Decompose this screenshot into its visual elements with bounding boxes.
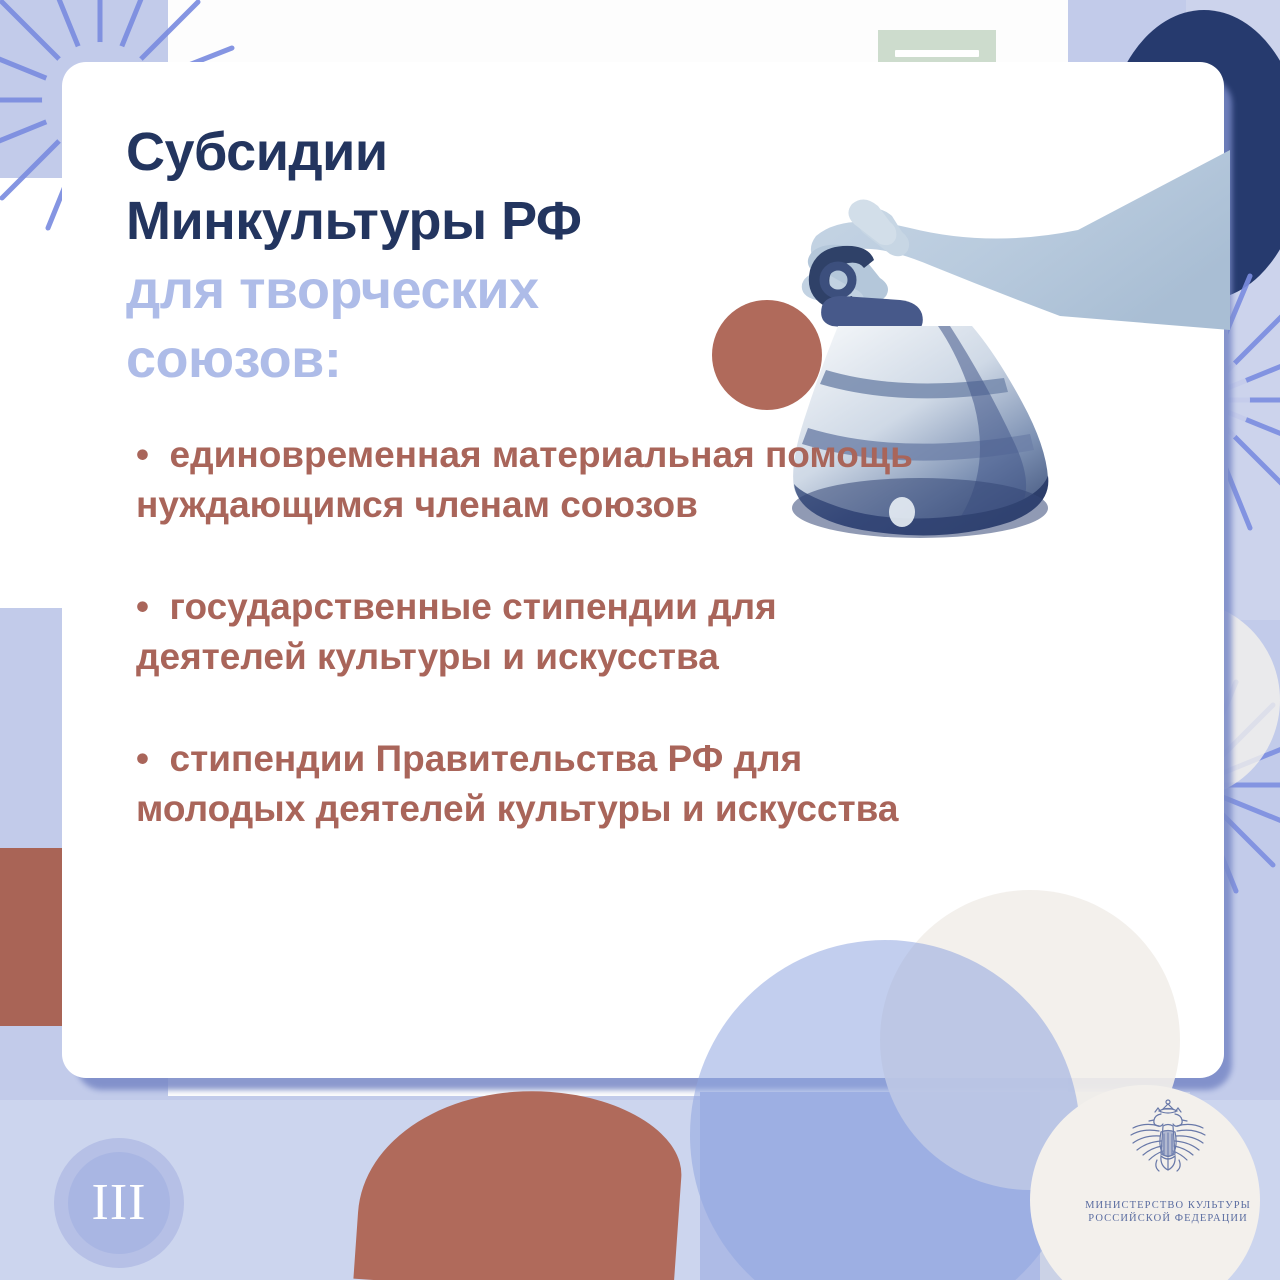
- bullet-text: стипендии Правительства РФ для молодых д…: [136, 738, 898, 829]
- slide-canvas: Субсидии Минкультуры РФ для творческих с…: [0, 0, 1280, 1280]
- bullet-text: единовременная материальная помощь нужда…: [136, 434, 913, 525]
- list-item: • государственные стипендии для деятелей…: [136, 582, 926, 682]
- page-badge-number: III: [92, 1177, 147, 1229]
- logo-caption-line-2: РОССИЙСКОЙ ФЕДЕРАЦИИ: [1085, 1212, 1251, 1225]
- logo-caption: МИНИСТЕРСТВО КУЛЬТУРЫ РОССИЙСКОЙ ФЕДЕРАЦ…: [1085, 1199, 1251, 1225]
- page-title: Субсидии Минкультуры РФ для творческих с…: [126, 118, 766, 394]
- bullet-text: государственные стипендии для деятелей к…: [136, 586, 777, 677]
- ministry-logo: МИНИСТЕРСТВО КУЛЬТУРЫ РОССИЙСКОЙ ФЕДЕРАЦ…: [1078, 1098, 1258, 1250]
- headline-line-2: Минкультуры РФ: [126, 187, 766, 256]
- bullet-marker: •: [136, 738, 149, 779]
- list-item: • единовременная материальная помощь нуж…: [136, 430, 926, 530]
- bullet-marker: •: [136, 434, 149, 475]
- bullet-marker: •: [136, 586, 149, 627]
- headline-line-1: Субсидии: [126, 118, 766, 187]
- page-badge: III: [68, 1152, 170, 1254]
- headline-line-3: для творческих: [126, 256, 766, 325]
- double-headed-eagle-lyre-emblem-icon: [1109, 1098, 1227, 1194]
- headline-line-4: союзов:: [126, 325, 766, 394]
- list-item: • стипендии Правительства РФ для молодых…: [136, 734, 926, 834]
- logo-caption-line-1: МИНИСТЕРСТВО КУЛЬТУРЫ: [1085, 1199, 1251, 1212]
- bullet-list: • единовременная материальная помощь нуж…: [136, 430, 926, 886]
